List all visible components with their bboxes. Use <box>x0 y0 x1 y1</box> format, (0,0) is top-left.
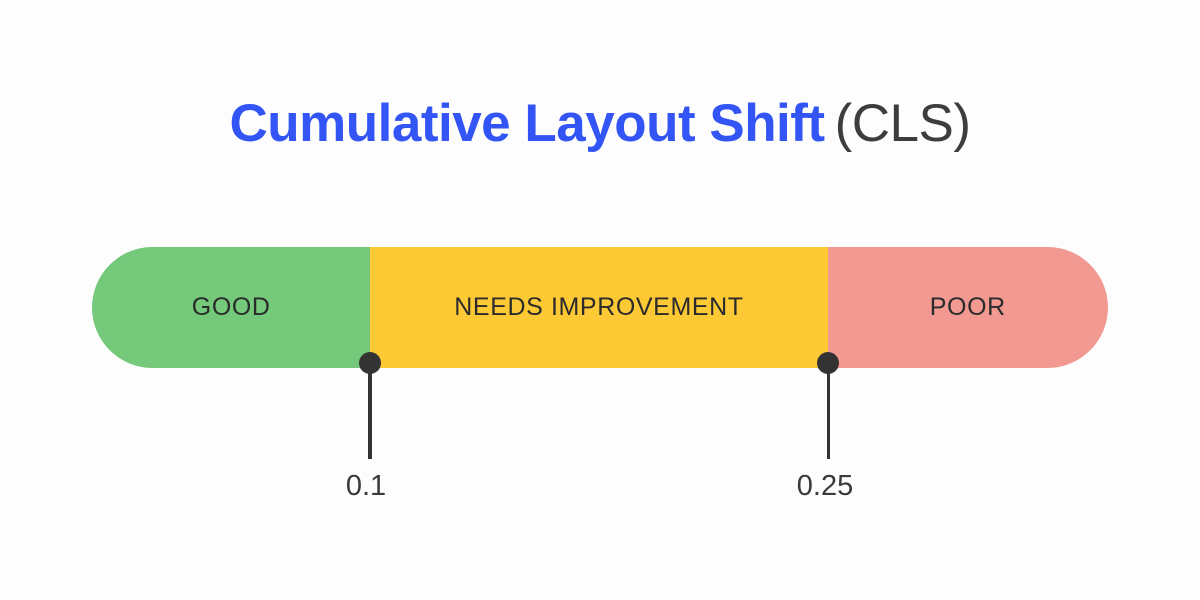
threshold-segment-good-label: GOOD <box>192 293 271 322</box>
infographic-stage: Cumulative Layout Shift(CLS) GOOD NEEDS … <box>0 0 1200 600</box>
threshold-marker-0-25-value: 0.25 <box>725 470 925 503</box>
cls-threshold-bar: GOOD NEEDS IMPROVEMENT POOR <box>92 247 1108 368</box>
marker-leader-line <box>827 363 830 459</box>
threshold-segment-good: GOOD <box>92 247 370 368</box>
threshold-segment-poor-label: POOR <box>930 293 1006 322</box>
page-title-abbreviation: (CLS) <box>835 94 971 153</box>
threshold-segment-poor: POOR <box>828 247 1108 368</box>
threshold-segment-needs-improvement: NEEDS IMPROVEMENT <box>370 247 827 368</box>
page-title-main: Cumulative Layout Shift <box>229 94 824 153</box>
marker-leader-line <box>368 363 372 459</box>
threshold-marker-0-1-value: 0.1 <box>266 470 466 503</box>
page-title: Cumulative Layout Shift(CLS) <box>0 92 1200 156</box>
threshold-segment-needs-improvement-label: NEEDS IMPROVEMENT <box>454 293 743 322</box>
